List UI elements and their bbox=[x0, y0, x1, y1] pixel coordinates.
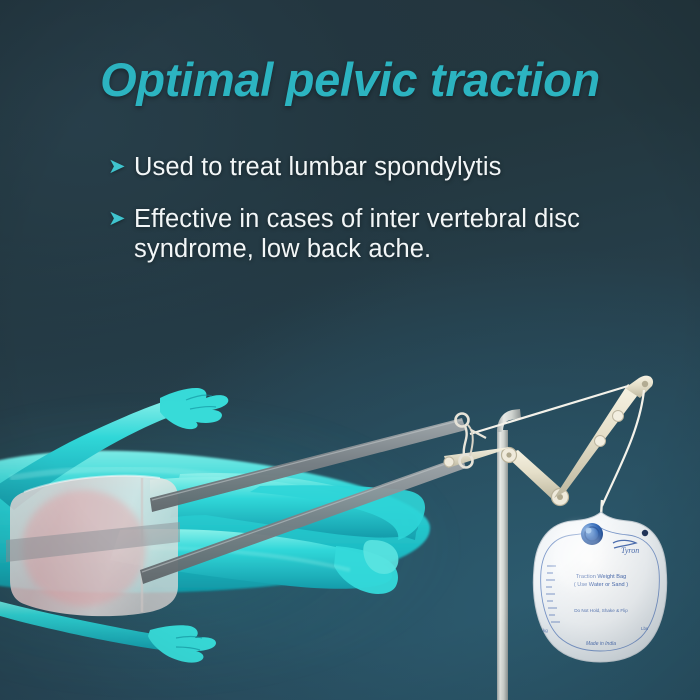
bullet-item-1: ➤ Used to treat lumbar spondylytis bbox=[108, 152, 608, 182]
svg-text:Lbs: Lbs bbox=[641, 626, 649, 631]
bullet-item-2: ➤ Effective in cases of inter vertebral … bbox=[108, 204, 608, 264]
bullet-text-1: Used to treat lumbar spondylytis bbox=[134, 152, 608, 182]
pelvic-traction-belt bbox=[6, 476, 180, 616]
svg-text:Do Not Hold, Shake & Flip: Do Not Hold, Shake & Flip bbox=[574, 608, 628, 613]
slide-canvas: Tyron Traction Weight Bag ( Use Water or… bbox=[0, 0, 700, 700]
bullet-list: ➤ Used to treat lumbar spondylytis ➤ Eff… bbox=[108, 152, 608, 286]
svg-text:kg: kg bbox=[543, 628, 548, 633]
arrow-bullet-icon: ➤ bbox=[108, 152, 134, 182]
svg-text:Made in India: Made in India bbox=[586, 641, 616, 647]
svg-text:Tyron: Tyron bbox=[621, 546, 639, 555]
traction-weight-bag: Tyron Traction Weight Bag ( Use Water or… bbox=[533, 500, 666, 662]
bullet-text-2: Effective in cases of inter vertebral di… bbox=[134, 204, 608, 264]
page-title: Optimal pelvic traction bbox=[0, 52, 700, 107]
arrow-bullet-icon: ➤ bbox=[108, 204, 134, 234]
